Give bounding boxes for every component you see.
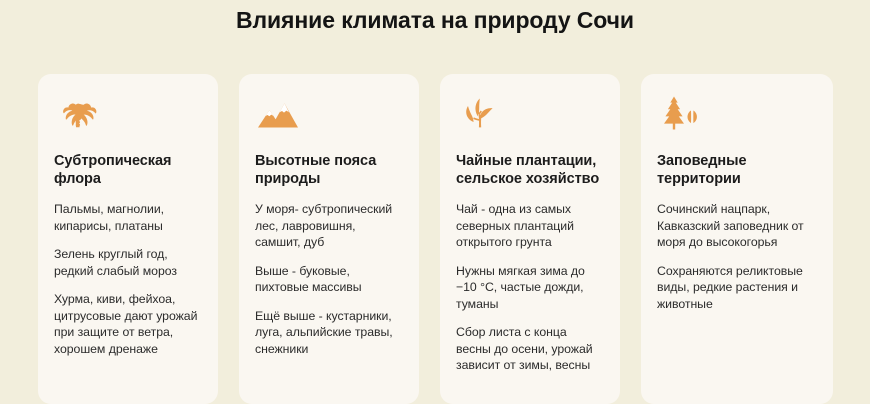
card-paragraph: Пальмы, магнолии, кипарисы, платаны <box>54 201 202 234</box>
card-paragraph: Сбор листа с конца весны до осени, урожа… <box>456 324 604 374</box>
card-heading: Субтропическая флора <box>54 152 202 188</box>
card-paragraph: Нужны мягкая зима до −10 °C, частые дожд… <box>456 263 604 313</box>
tea-sprout-icon <box>456 90 504 138</box>
infographic-page: Влияние климата на природу Сочи Су <box>0 0 870 400</box>
page-title: Влияние климата на природу Сочи <box>0 6 870 34</box>
mountains-icon <box>255 90 303 138</box>
card-paragraph: Чай - одна из самых северных плантаций о… <box>456 201 604 251</box>
conifer-tree-icon <box>657 90 705 138</box>
card-paragraph: Сохраняются реликтовые виды, редкие раст… <box>657 263 817 313</box>
card-heading: Заповедные территории <box>657 152 817 188</box>
card-protected-areas[interactable]: Заповедные территории Сочинский нацпарк,… <box>641 74 833 404</box>
card-heading: Высотные пояса природы <box>255 152 403 188</box>
card-paragraph: У моря- субтропический лес, лавровишня, … <box>255 201 403 251</box>
card-heading: Чайные плантации, сельское хозяйство <box>456 152 604 188</box>
card-paragraph: Сочинский нацпарк, Кавказский заповедник… <box>657 201 817 251</box>
card-tea-plantations[interactable]: Чайные плантации, сельское хозяйство Чай… <box>440 74 620 404</box>
palm-tree-icon <box>54 90 102 138</box>
card-altitudinal-zones[interactable]: Высотные пояса природы У моря- субтропич… <box>239 74 419 404</box>
card-paragraph: Ещё выше - кустарники, луга, альпийские … <box>255 308 403 358</box>
card-paragraph: Хурма, киви, фейхоа, цитрусовые дают уро… <box>54 291 202 357</box>
card-paragraph: Выше - буковые, пихтовые массивы <box>255 263 403 296</box>
cards-row: Субтропическая флора Пальмы, магнолии, к… <box>38 74 833 404</box>
card-paragraph: Зелень круглый год, редкий слабый мороз <box>54 246 202 279</box>
card-subtropical-flora[interactable]: Субтропическая флора Пальмы, магнолии, к… <box>38 74 218 404</box>
